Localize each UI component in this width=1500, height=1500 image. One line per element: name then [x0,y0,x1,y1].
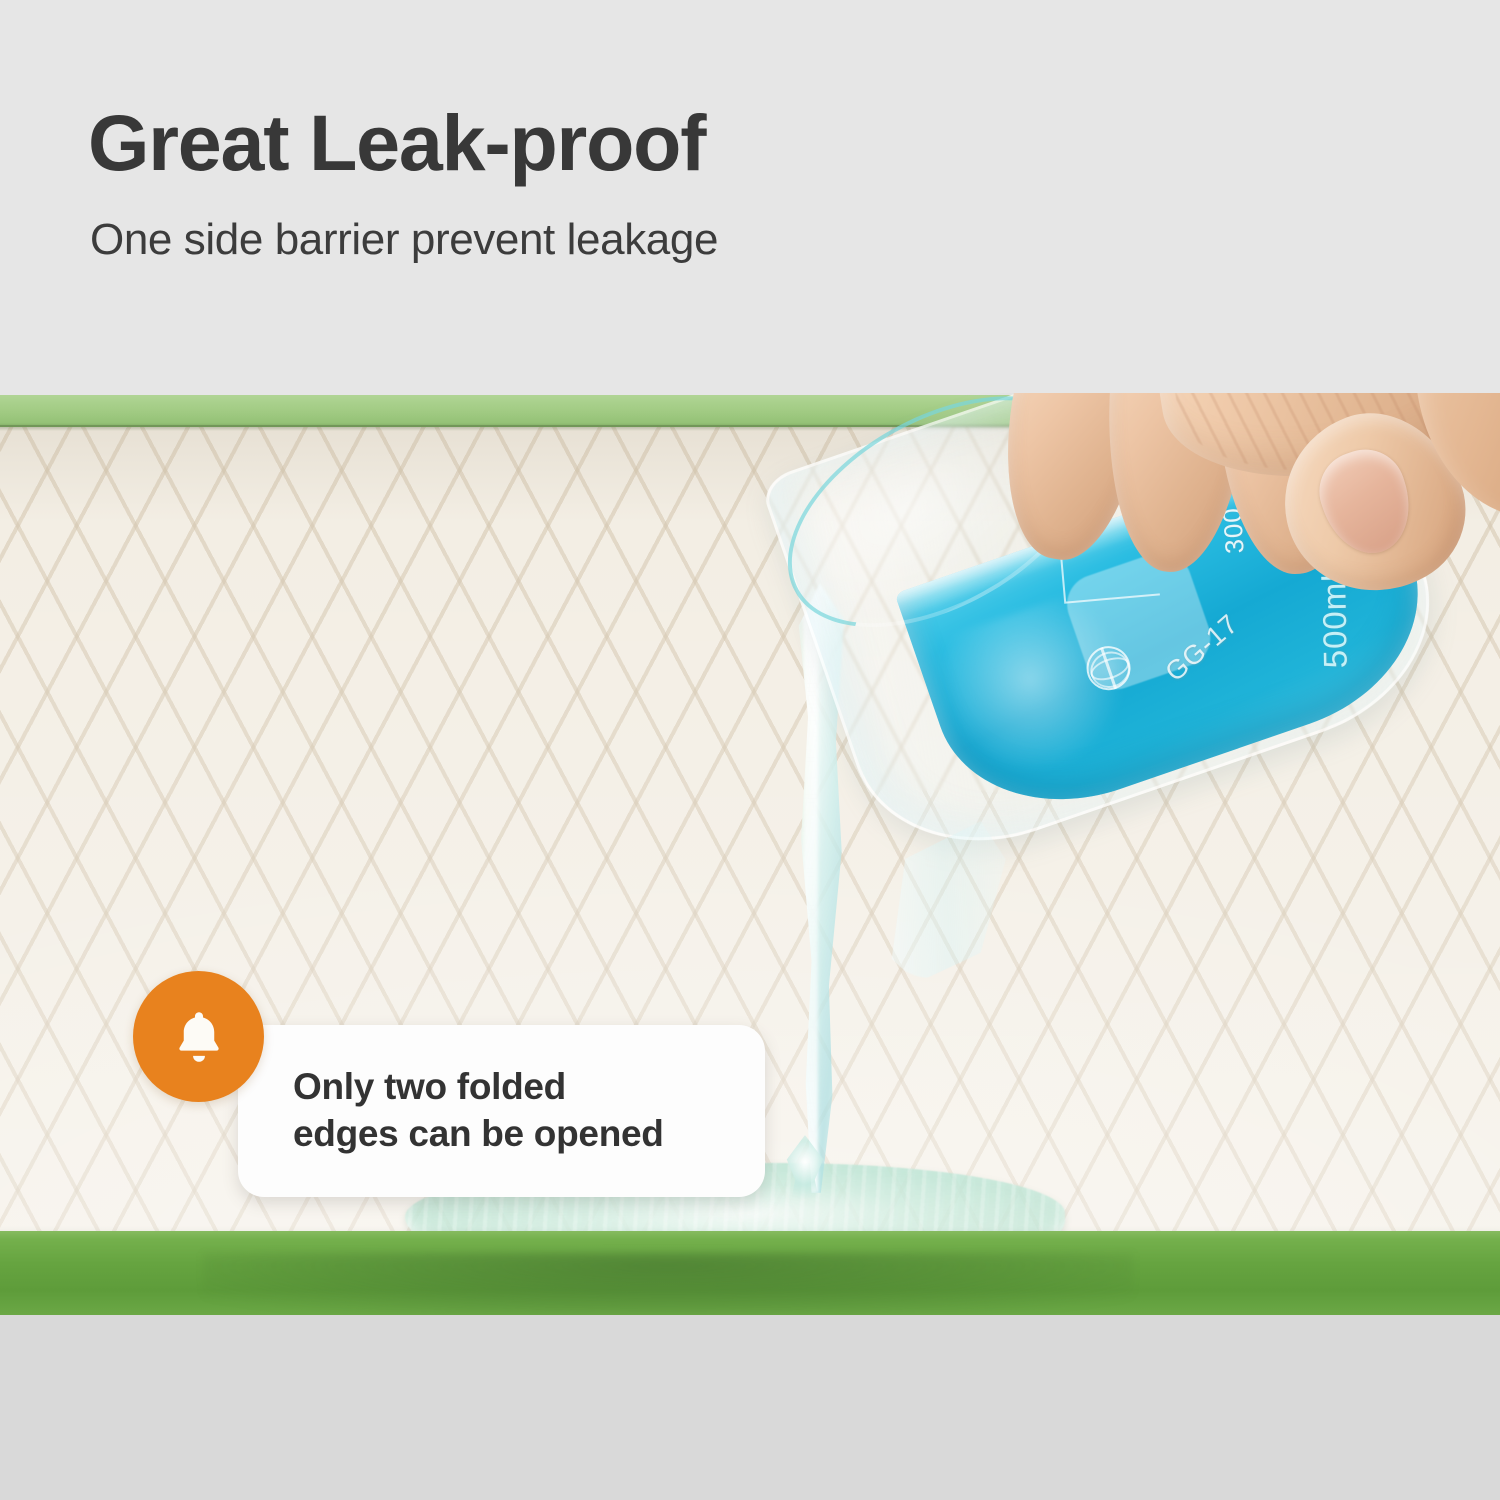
header-band: Great Leak-proof One side barrier preven… [0,0,1500,395]
hand-holding-beaker: 500 APPROX 300 200 100 GG-17 500ml [835,393,1500,978]
beaker-spout [850,813,1041,995]
bell-icon [168,1006,230,1068]
product-scene: 500 APPROX 300 200 100 GG-17 500ml [0,393,1500,1323]
callout-line-2: edges can be opened [293,1113,664,1154]
product-feature-image: 500 APPROX 300 200 100 GG-17 500ml [0,0,1500,1500]
folded-edge-barrier [0,1231,1500,1323]
callout-text: Only two folded edges can be opened [293,1063,743,1158]
hand [985,393,1500,688]
callout-line-1: Only two folded [293,1066,566,1107]
page-title: Great Leak-proof [88,103,705,182]
page-subtitle: One side barrier prevent leakage [90,218,718,262]
callout-card: Only two folded edges can be opened [238,1025,765,1197]
bell-badge [133,971,264,1102]
barrier-wet-patch [203,1253,1133,1315]
footer-band [0,1315,1500,1500]
